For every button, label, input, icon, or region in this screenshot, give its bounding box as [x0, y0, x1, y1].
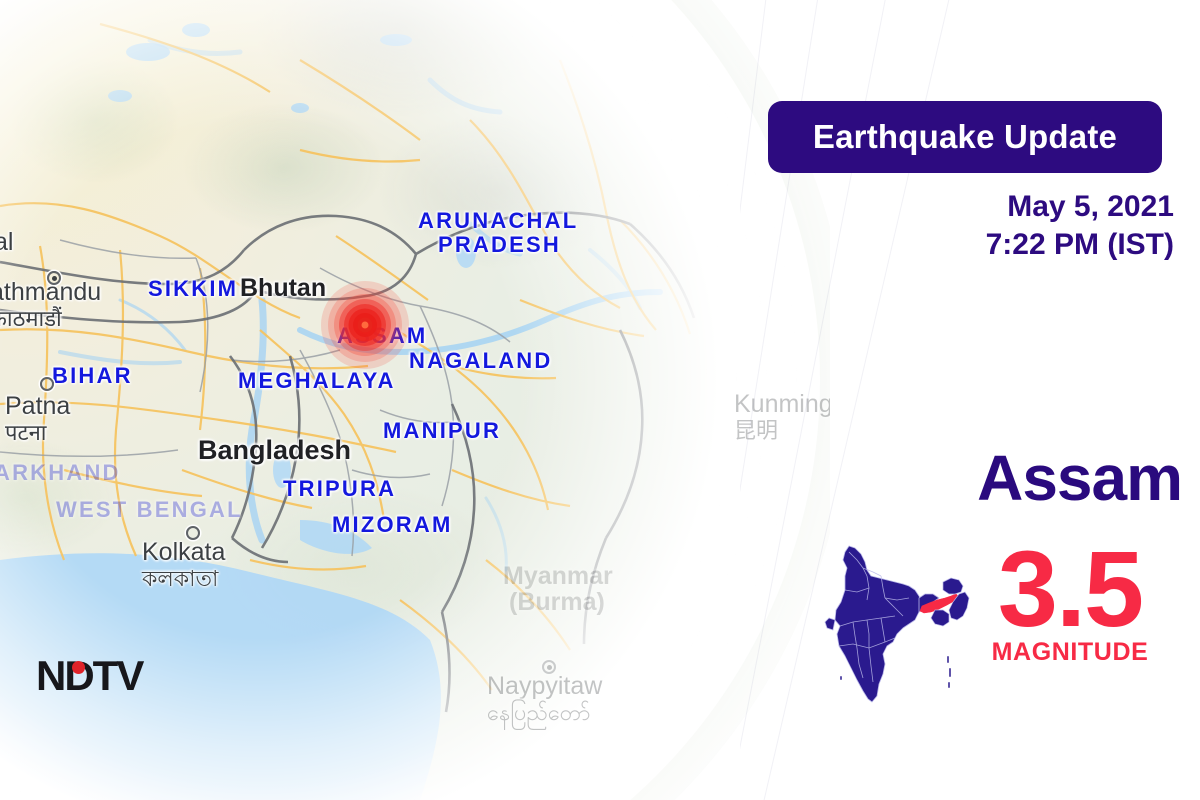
ndtv-logo-text: NDTV [36, 652, 142, 699]
map-city-label: Kolkataকলকাতা [142, 538, 225, 590]
india-inset-map [823, 528, 993, 708]
headline-badge-label: Earthquake Update [813, 118, 1117, 156]
ndtv-logo: NDTV [36, 652, 142, 700]
map-state-label: MANIPUR [383, 418, 501, 444]
map-country-label: Bhutan [240, 274, 326, 303]
event-date: May 5, 2021 [768, 188, 1174, 226]
headline-badge: Earthquake Update [768, 101, 1162, 173]
map-state-label: PRADESH [438, 232, 561, 258]
map-state-label: MEGHALAYA [238, 368, 396, 394]
map-state-label: NAGALAND [409, 348, 552, 374]
ndtv-logo-dot-icon [72, 661, 85, 674]
event-datetime: May 5, 2021 7:22 PM (IST) [768, 188, 1174, 265]
map-state-label: SIKKIM [148, 276, 238, 302]
map-state-label: ARUNACHAL [418, 208, 578, 234]
map-panel[interactable]: ARUNACHALPRADESHSIKKIMASSAMNAGALANDMEGHA… [0, 0, 830, 800]
epicenter-core [362, 322, 369, 329]
map-city-label: Patnaपटना [5, 392, 70, 444]
map-state-label: MIZORAM [332, 512, 453, 538]
map-state-label: WEST BENGAL [56, 497, 243, 523]
map-city-name-native: နေပြည်တော် [487, 701, 602, 724]
map-capital-dot-icon [52, 276, 57, 281]
map-city-name-native: पटना [5, 421, 70, 444]
map-country-label: Myanmar [503, 562, 613, 591]
magnitude-block: 3.5 MAGNITUDE [970, 536, 1170, 667]
map-state-label: BIHAR [52, 363, 133, 389]
map-city-name-native: কলকাতা [142, 567, 225, 590]
event-time: 7:22 PM (IST) [768, 226, 1174, 264]
map-capital-dot-icon [547, 665, 552, 670]
map-city-label: athmanduकाठमाडौं [0, 278, 101, 330]
map-country-label: (Burma) [509, 588, 605, 617]
map-city-dot-icon [40, 377, 54, 391]
earthquake-update-graphic: ARUNACHALPRADESHSIKKIMASSAMNAGALANDMEGHA… [0, 0, 1200, 800]
map-city-name: Kolkata [142, 538, 225, 566]
map-city-name: Patna [5, 392, 70, 420]
map-state-label: ARKHAND [0, 460, 121, 486]
map-city-name: Naypyitaw [487, 672, 602, 700]
map-country-label: Bangladesh [198, 435, 351, 466]
map-city-dot-icon [186, 526, 200, 540]
map-city-label: al [0, 228, 13, 257]
map-city-name-native: काठमाडौं [0, 307, 101, 330]
map-city-label: Naypyitawနေပြည်တော် [487, 672, 602, 724]
map-state-label: TRIPURA [283, 476, 396, 502]
map-city-name: al [0, 228, 13, 256]
region-name: Assam [768, 446, 1182, 510]
magnitude-label: MAGNITUDE [970, 638, 1170, 667]
magnitude-value: 3.5 [970, 536, 1170, 642]
